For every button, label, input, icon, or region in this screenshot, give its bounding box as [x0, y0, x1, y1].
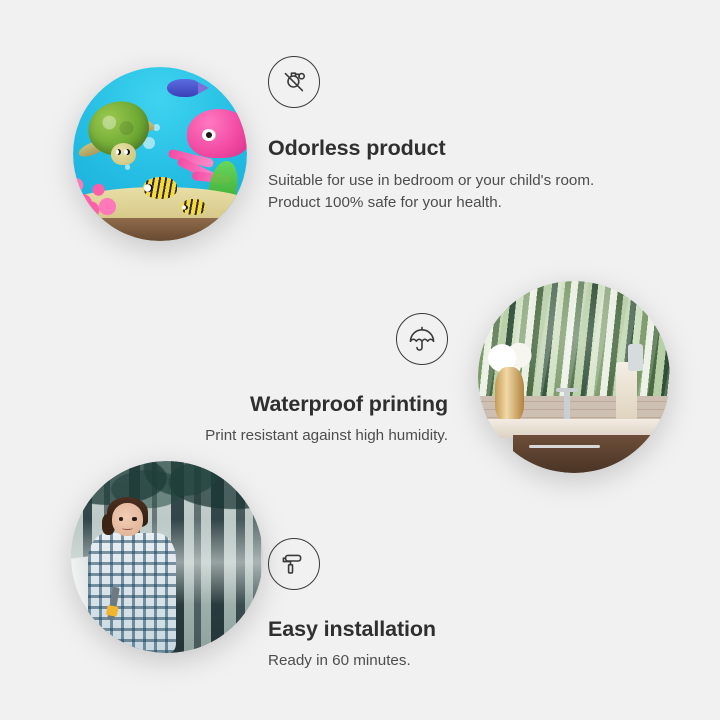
- feature-title: Waterproof printing: [158, 392, 448, 417]
- feature-odorless: Odorless product Suitable for use in bed…: [268, 56, 608, 213]
- woman-with-paint-roller-forest-wallpaper-photo: [71, 461, 263, 653]
- soap-dispenser: [628, 344, 643, 371]
- feature-infographic-page: { "page": { "background_color": "#f1f1f1…: [0, 0, 720, 720]
- coral-illustration: [73, 164, 122, 220]
- blue-fish-illustration: [167, 79, 200, 96]
- face: [112, 503, 143, 536]
- feature-easy-installation: Easy installation Ready in 60 minutes.: [268, 538, 568, 672]
- bathroom-tropical-leaf-wallpaper-photo: [478, 281, 670, 473]
- feature-description: Suitable for use in bedroom or your chil…: [268, 170, 596, 213]
- eye: [132, 517, 136, 520]
- faucet: [564, 389, 570, 424]
- yellow-fish-illustration: [143, 177, 178, 200]
- feature-waterproof: Waterproof printing Print resistant agai…: [158, 313, 448, 447]
- sea-floor-strip: [73, 218, 247, 241]
- wood-vanity-cabinet: [513, 435, 670, 473]
- paint-roller-icon: [268, 538, 320, 590]
- yellow-fish-small-illustration: [181, 199, 205, 215]
- feature-description: Ready in 60 minutes.: [268, 650, 568, 672]
- gold-vase: [495, 367, 524, 421]
- woman-illustration: [79, 503, 198, 653]
- feature-title: Easy installation: [268, 617, 568, 642]
- underwater-cartoon-wallpaper-photo: [73, 67, 247, 241]
- feature-description: Print resistant against high humidity.: [158, 425, 448, 447]
- plaid-shirt: [88, 533, 176, 653]
- no-odor-perfume-bottle-icon: [268, 56, 320, 108]
- feature-title: Odorless product: [268, 136, 608, 161]
- umbrella-icon: [396, 313, 448, 365]
